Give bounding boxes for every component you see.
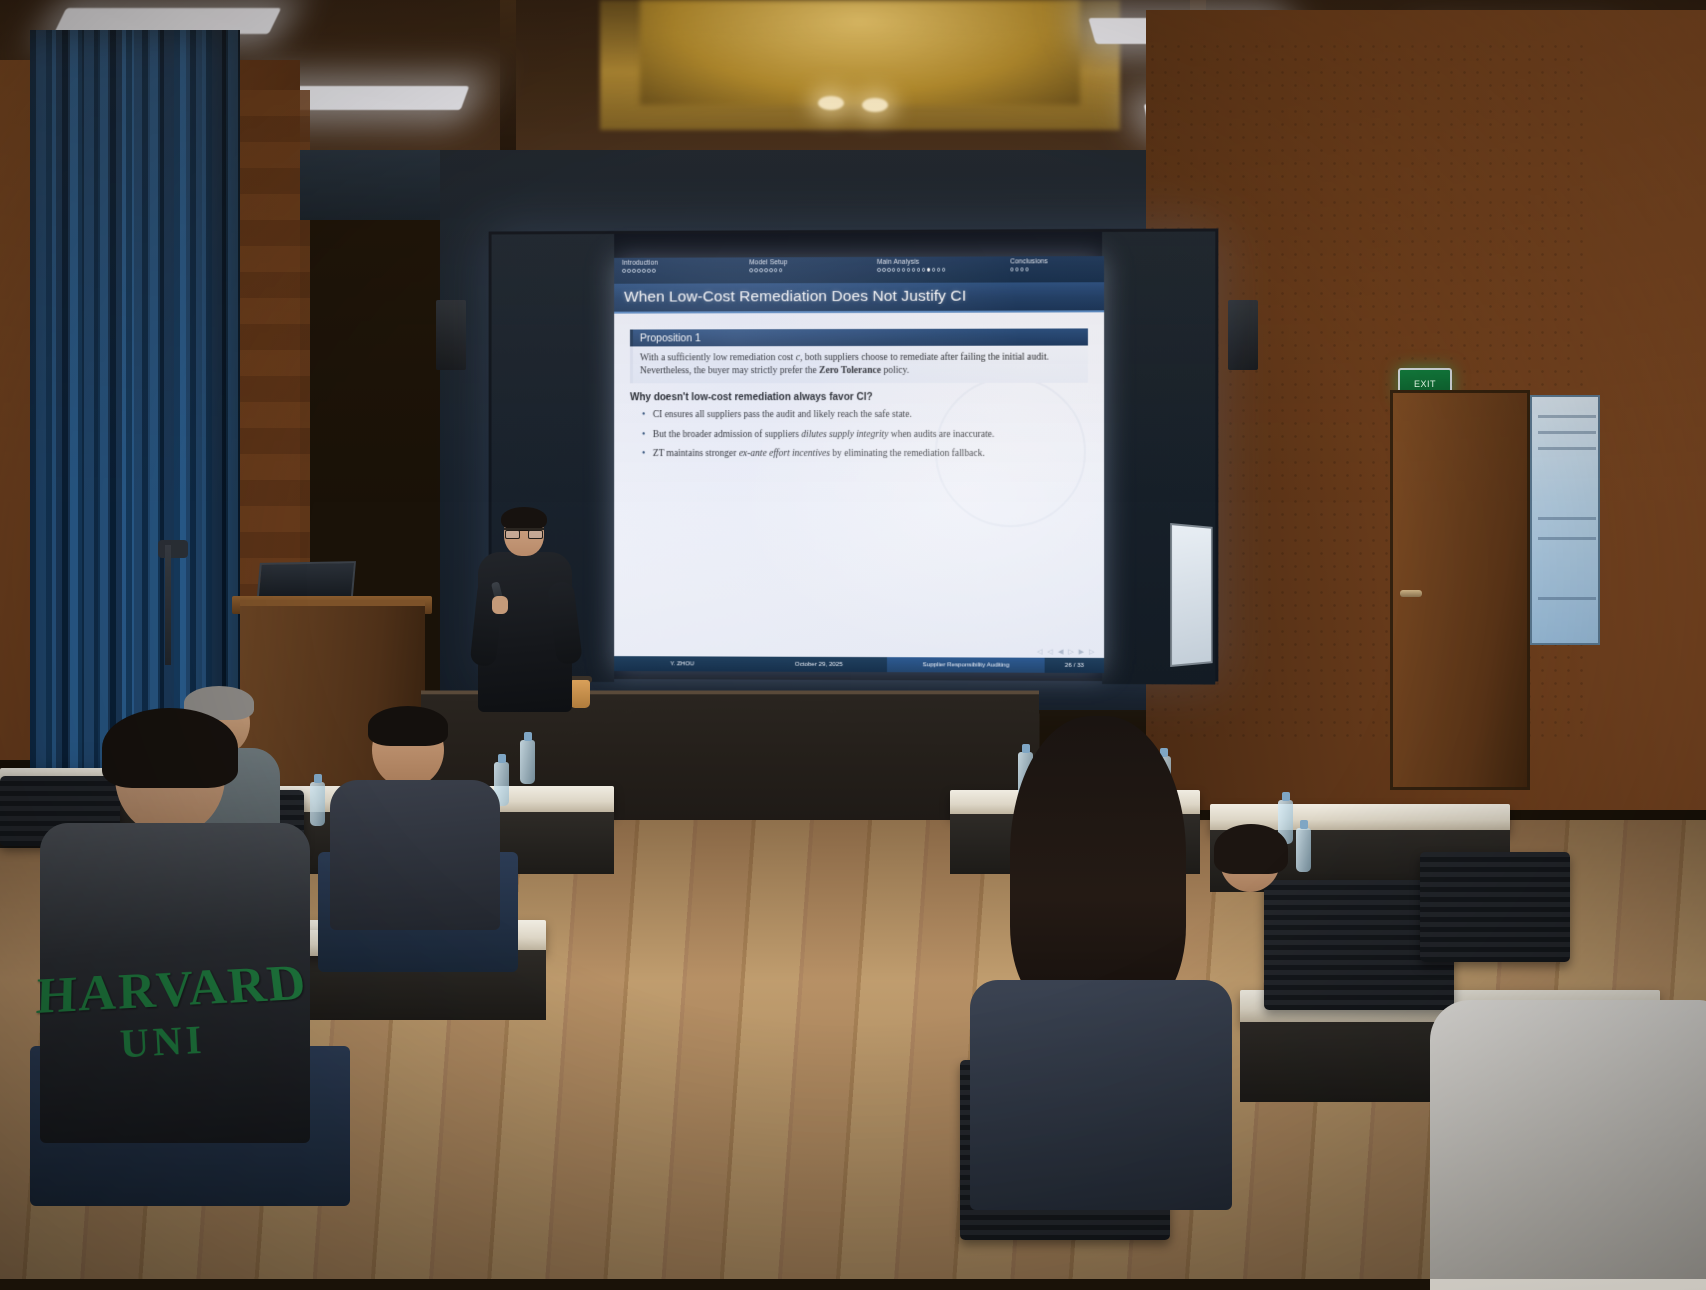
audience-member [330, 712, 500, 912]
ceiling-downlight [818, 96, 844, 110]
slide-title-bar: When Low-Cost Remediation Does Not Justi… [614, 282, 1104, 313]
nav-dot[interactable] [1025, 267, 1029, 271]
nav-section-main-analysis[interactable]: Main Analysis [877, 258, 1010, 271]
presenter-glasses [504, 528, 544, 537]
slide-title: When Low-Cost Remediation Does Not Justi… [624, 288, 966, 307]
list-item: ZT maintains stronger ex-ante effort inc… [642, 448, 1088, 461]
nav-dot[interactable] [917, 268, 921, 272]
nav-dot[interactable] [632, 269, 636, 273]
nav-dot[interactable] [764, 268, 768, 272]
lecture-hall-scene: Introduction Model Setup [0, 0, 1706, 1279]
proposition-text: With a sufficiently low remediation cost… [630, 346, 1088, 384]
nav-section-conclusions[interactable]: Conclusions [1010, 258, 1096, 271]
nav-dots-model-setup [749, 268, 877, 272]
projection-screen-housing: Introduction Model Setup [489, 228, 1219, 681]
person-hair [1010, 716, 1186, 1016]
nav-dot[interactable] [882, 268, 886, 272]
nav-dot[interactable] [1020, 267, 1024, 271]
poster-line [1538, 517, 1596, 520]
ceiling-recess-inner [640, 0, 1080, 105]
nav-dot[interactable] [887, 268, 891, 272]
list-item: CI ensures all suppliers pass the audit … [642, 409, 1088, 422]
presentation-slide: Introduction Model Setup [614, 256, 1104, 673]
poster-line [1538, 597, 1596, 600]
wall-speaker [1228, 300, 1258, 370]
proposition-emphasis-zero-tolerance: Zero Tolerance [819, 365, 881, 376]
glasses-lens-right [528, 530, 543, 539]
poster-line [1538, 431, 1596, 434]
nav-section-model-setup[interactable]: Model Setup [749, 259, 877, 272]
person-body [1430, 1000, 1706, 1290]
footer-date: October 29, 2025 [750, 657, 887, 673]
nav-dot[interactable] [622, 269, 626, 273]
list-item: But the broader admission of suppliers d… [642, 429, 1088, 442]
proposition-header: Proposition 1 [630, 328, 1088, 346]
person-hair [102, 708, 238, 788]
nav-section-introduction[interactable]: Introduction [622, 259, 749, 272]
person-hair [368, 706, 448, 746]
nav-dot[interactable] [637, 269, 641, 273]
bullet-emphasis: ex-ante effort incentives [739, 449, 830, 459]
bullet-part: by eliminating the remediation fallback. [830, 449, 985, 459]
nav-dot[interactable] [779, 268, 783, 272]
ceiling-downlight [862, 98, 888, 112]
glasses-lens-left [505, 530, 520, 539]
slide-nav-icons[interactable]: ◁ ◁ ◀ ▷ ▶ ▷ [1037, 648, 1096, 656]
poster-line [1538, 447, 1596, 450]
footer-page-number: 26 / 33 [1045, 658, 1104, 673]
slide-question-heading: Why doesn't low-cost remediation always … [630, 392, 1088, 403]
nav-dot[interactable] [652, 269, 656, 273]
bullet-emphasis: dilutes supply integrity [801, 430, 888, 440]
nav-dot[interactable] [937, 268, 941, 272]
camera-stand [165, 545, 171, 665]
nav-dot[interactable] [774, 268, 778, 272]
nav-dot[interactable] [642, 269, 646, 273]
nav-dots-main-analysis [877, 267, 1010, 271]
nav-dot[interactable] [627, 269, 631, 273]
audience-member [1430, 960, 1706, 1290]
nav-dot-current[interactable] [927, 268, 931, 272]
wall-poster [1530, 395, 1600, 645]
footer-author: Y. ZHOU [614, 656, 750, 671]
whiteboard [1170, 523, 1212, 667]
nav-section-label: Introduction [622, 259, 749, 267]
water-bottle [310, 782, 325, 826]
nav-dot[interactable] [749, 268, 753, 272]
slide-body: Proposition 1 With a sufficiently low re… [614, 314, 1104, 468]
bullet-part: CI ensures all suppliers pass the audit … [653, 410, 912, 420]
nav-section-label: Main Analysis [877, 258, 1010, 266]
nav-dot[interactable] [1010, 267, 1014, 271]
nav-dots-introduction [622, 268, 749, 272]
nav-dot[interactable] [1015, 267, 1019, 271]
nav-dot[interactable] [942, 268, 946, 272]
chair[interactable] [1420, 852, 1570, 962]
person-body [330, 780, 500, 930]
poster-line [1538, 537, 1596, 540]
slide-navigation-bar: Introduction Model Setup [614, 256, 1104, 284]
audience-member [40, 718, 310, 1138]
nav-dot[interactable] [912, 268, 916, 272]
slide-footer: Y. ZHOU October 29, 2025 Supplier Respon… [614, 656, 1104, 673]
person-hair [1214, 824, 1288, 874]
nav-dot[interactable] [759, 268, 763, 272]
presenter-hand [492, 596, 508, 614]
nav-dot[interactable] [877, 268, 881, 272]
poster-line [1538, 415, 1596, 418]
nav-dot[interactable] [922, 268, 926, 272]
exit-sign-label: EXIT [1414, 379, 1436, 389]
water-bottle [520, 740, 535, 784]
slide-bullet-list: CI ensures all suppliers pass the audit … [630, 409, 1088, 461]
curtain-folds [30, 30, 240, 790]
curtain-left [30, 30, 240, 790]
nav-dots-conclusions [1010, 267, 1096, 271]
audience-member [1190, 830, 1320, 990]
presenter [470, 510, 580, 710]
proposition-part: With a sufficiently low remediation cost [640, 352, 796, 363]
nav-section-label: Conclusions [1010, 258, 1096, 266]
ceiling-beam [500, 0, 516, 150]
camera-unit [158, 540, 188, 558]
hoodie-text-line2: UNI [119, 1016, 207, 1067]
footer-short-title: Supplier Responsibility Auditing [887, 657, 1044, 673]
nav-section-label: Model Setup [749, 259, 877, 267]
nav-dot[interactable] [769, 268, 773, 272]
bullet-part: when audits are inaccurate. [888, 430, 994, 440]
nav-dot[interactable] [647, 269, 651, 273]
bullet-part: But the broader admission of suppliers [653, 430, 802, 440]
nav-dot[interactable] [902, 268, 906, 272]
nav-dot[interactable] [932, 268, 936, 272]
proposition-part: policy. [881, 365, 909, 376]
proposition-block: Proposition 1 With a sufficiently low re… [630, 328, 1088, 383]
wall-speaker [436, 300, 466, 370]
nav-dot[interactable] [897, 268, 901, 272]
nav-dot[interactable] [907, 268, 911, 272]
nav-dot[interactable] [892, 268, 896, 272]
bullet-part: ZT maintains stronger [653, 449, 739, 459]
nav-dot[interactable] [754, 268, 758, 272]
door-handle[interactable] [1400, 590, 1422, 597]
person-body [970, 980, 1232, 1210]
